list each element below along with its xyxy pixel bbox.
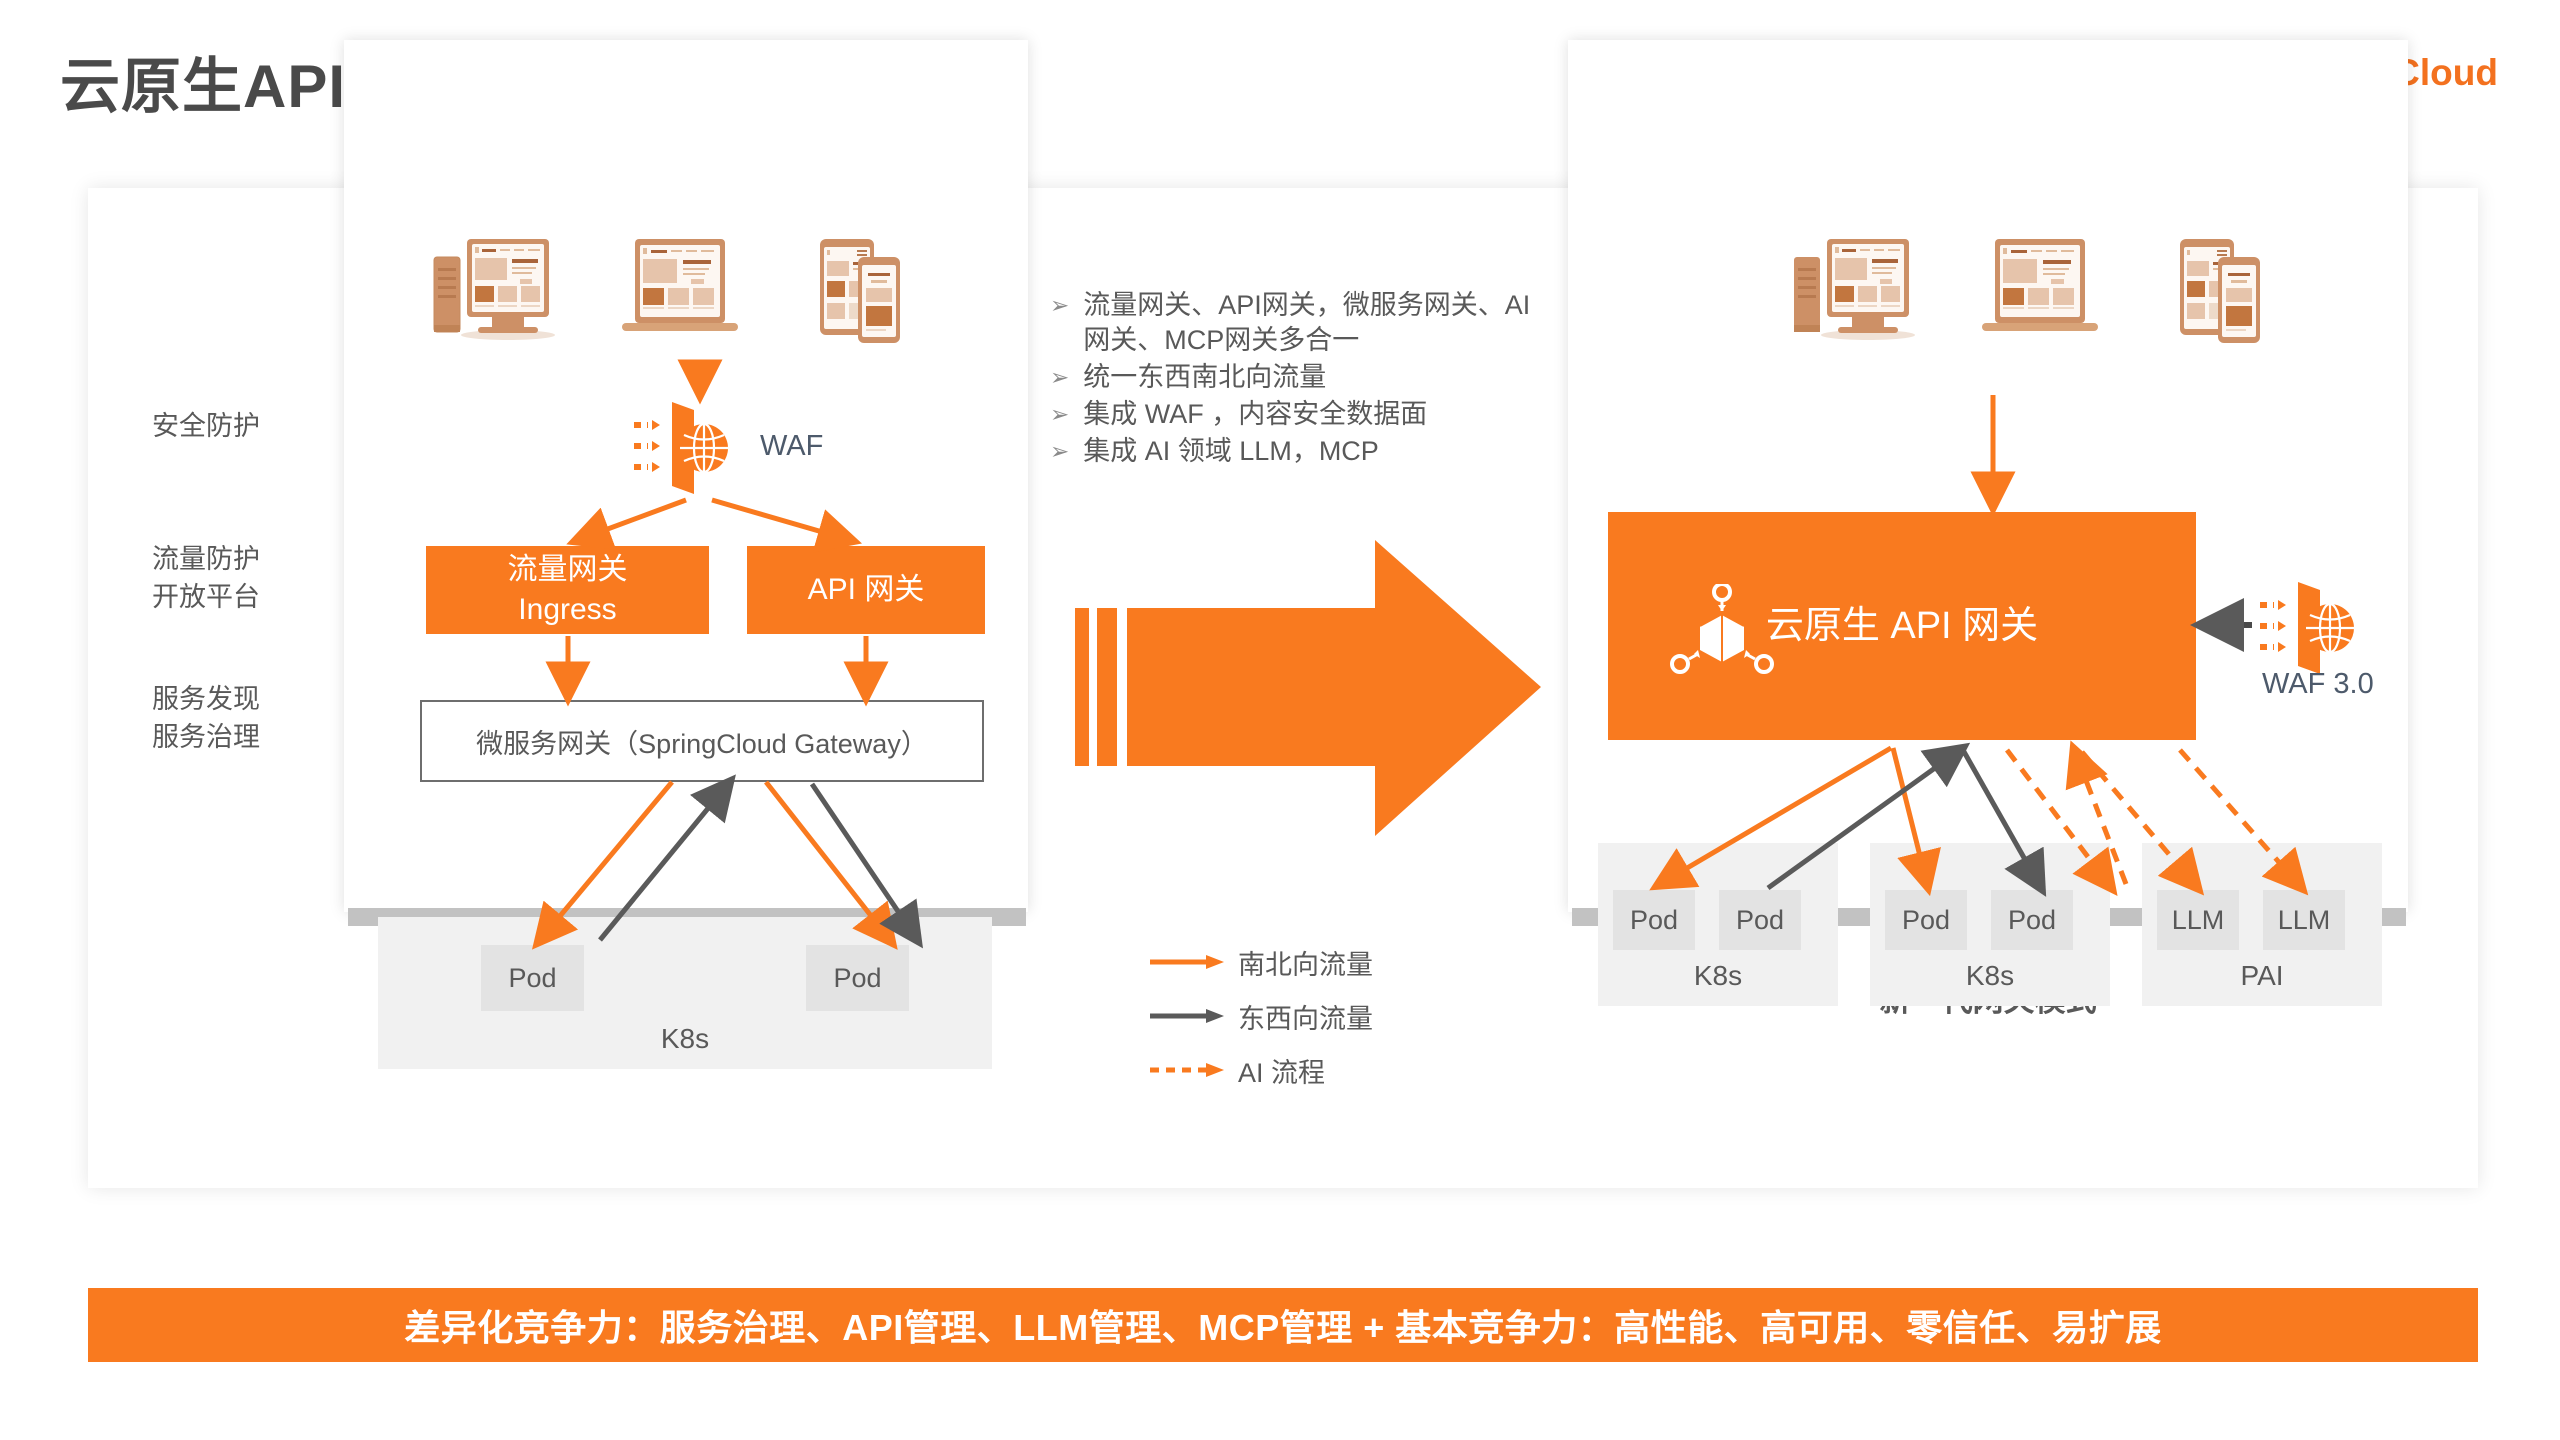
k8s-cluster-right-1-label: K8s xyxy=(1598,960,1838,992)
cube-nodes-icon xyxy=(1670,584,1774,678)
k8s-cluster-left-label: K8s xyxy=(378,1023,992,1055)
laptop-icon xyxy=(1982,239,2098,331)
laptop-icon xyxy=(622,239,738,331)
stage-label-security: 安全防护 xyxy=(152,407,260,445)
bullet-marker-icon: ➢ xyxy=(1050,397,1069,432)
feature-bullet-list: ➢ 流量网关、API网关，微服务网关、AI网关、MCP网关多合一 ➢ 统一东西南… xyxy=(1050,288,1550,471)
llm-1: LLM xyxy=(2157,890,2239,950)
pod-r1-2: Pod xyxy=(1719,890,1801,950)
legend: 南北向流量 东西向流量 AI 流程 xyxy=(1150,935,1373,1097)
transition-arrow-icon xyxy=(1075,540,1555,850)
waf3-shield-icon xyxy=(2258,578,2368,678)
desktop-monitor-icon xyxy=(1821,239,1915,340)
client-devices-left xyxy=(430,235,970,360)
pod-r1-1: Pod xyxy=(1613,890,1695,950)
waf-shield-icon xyxy=(632,398,742,498)
desktop-monitor-icon xyxy=(461,239,555,340)
solid-orange-arrow-icon xyxy=(1150,952,1226,972)
bullet-marker-icon: ➢ xyxy=(1050,360,1069,395)
bullet-marker-icon: ➢ xyxy=(1050,434,1069,469)
bullet-text: 集成 WAF ，内容安全数据面 xyxy=(1083,397,1427,432)
bullet-item: ➢ 流量网关、API网关，微服务网关、AI网关、MCP网关多合一 xyxy=(1050,288,1550,358)
api-gateway-box[interactable]: API 网关 xyxy=(747,546,985,634)
cloud-native-api-gateway-box[interactable]: 云原生 API 网关 xyxy=(1608,512,2196,740)
bullet-item: ➢ 集成 WAF ，内容安全数据面 xyxy=(1050,397,1550,432)
pai-cluster-label: PAI xyxy=(2142,960,2382,992)
microservice-gateway-box[interactable]: 微服务网关（SpringCloud Gateway） xyxy=(420,700,984,782)
stage-label-service: 服务发现 服务治理 xyxy=(152,680,260,756)
slide-root: 云原生API网关简介 Alibaba Cloud 安全防护 流量防护 开放平台 … xyxy=(0,0,2560,1440)
mobile-devices-icon xyxy=(820,239,900,343)
bullet-text: 统一东西南北向流量 xyxy=(1083,360,1326,395)
bullet-item: ➢ 集成 AI 领域 LLM，MCP xyxy=(1050,434,1550,469)
llm-2: LLM xyxy=(2263,890,2345,950)
legend-row-north-south: 南北向流量 xyxy=(1150,935,1373,989)
stage-label-traffic: 流量防护 开放平台 xyxy=(152,540,260,616)
legend-row-east-west: 东西向流量 xyxy=(1150,989,1373,1043)
pod-r2-1: Pod xyxy=(1885,890,1967,950)
solid-gray-arrow-icon xyxy=(1150,1006,1226,1026)
bullet-marker-icon: ➢ xyxy=(1050,288,1069,323)
dashed-orange-arrow-icon xyxy=(1150,1060,1226,1080)
legend-row-ai-flow: AI 流程 xyxy=(1150,1043,1373,1097)
waf-label-left: WAF xyxy=(760,430,823,463)
pod-left-2: Pod xyxy=(806,945,909,1011)
bottom-banner: 差异化竞争力：服务治理、API管理、LLM管理、MCP管理 + 基本竞争力：高性… xyxy=(88,1288,2478,1362)
pod-r2-2: Pod xyxy=(1991,890,2073,950)
new-gateway-panel xyxy=(1568,40,2408,912)
mobile-devices-icon xyxy=(2180,239,2260,343)
client-devices-right xyxy=(1790,235,2330,360)
bullet-text: 集成 AI 领域 LLM，MCP xyxy=(1083,434,1379,469)
pod-left-1: Pod xyxy=(481,945,584,1011)
legend-label: 东西向流量 xyxy=(1238,997,1373,1036)
cloud-native-api-gateway-label: 云原生 API 网关 xyxy=(1766,606,2038,646)
legend-label: 南北向流量 xyxy=(1238,943,1373,982)
bullet-text: 流量网关、API网关，微服务网关、AI网关、MCP网关多合一 xyxy=(1083,288,1550,358)
k8s-cluster-right-2-label: K8s xyxy=(1870,960,2110,992)
bullet-item: ➢ 统一东西南北向流量 xyxy=(1050,360,1550,395)
waf3-label: WAF 3.0 xyxy=(2262,668,2374,701)
legend-label: AI 流程 xyxy=(1238,1051,1325,1090)
traffic-gateway-box[interactable]: 流量网关 Ingress xyxy=(426,546,709,634)
server-icon xyxy=(1794,257,1820,332)
server-icon xyxy=(434,257,460,332)
